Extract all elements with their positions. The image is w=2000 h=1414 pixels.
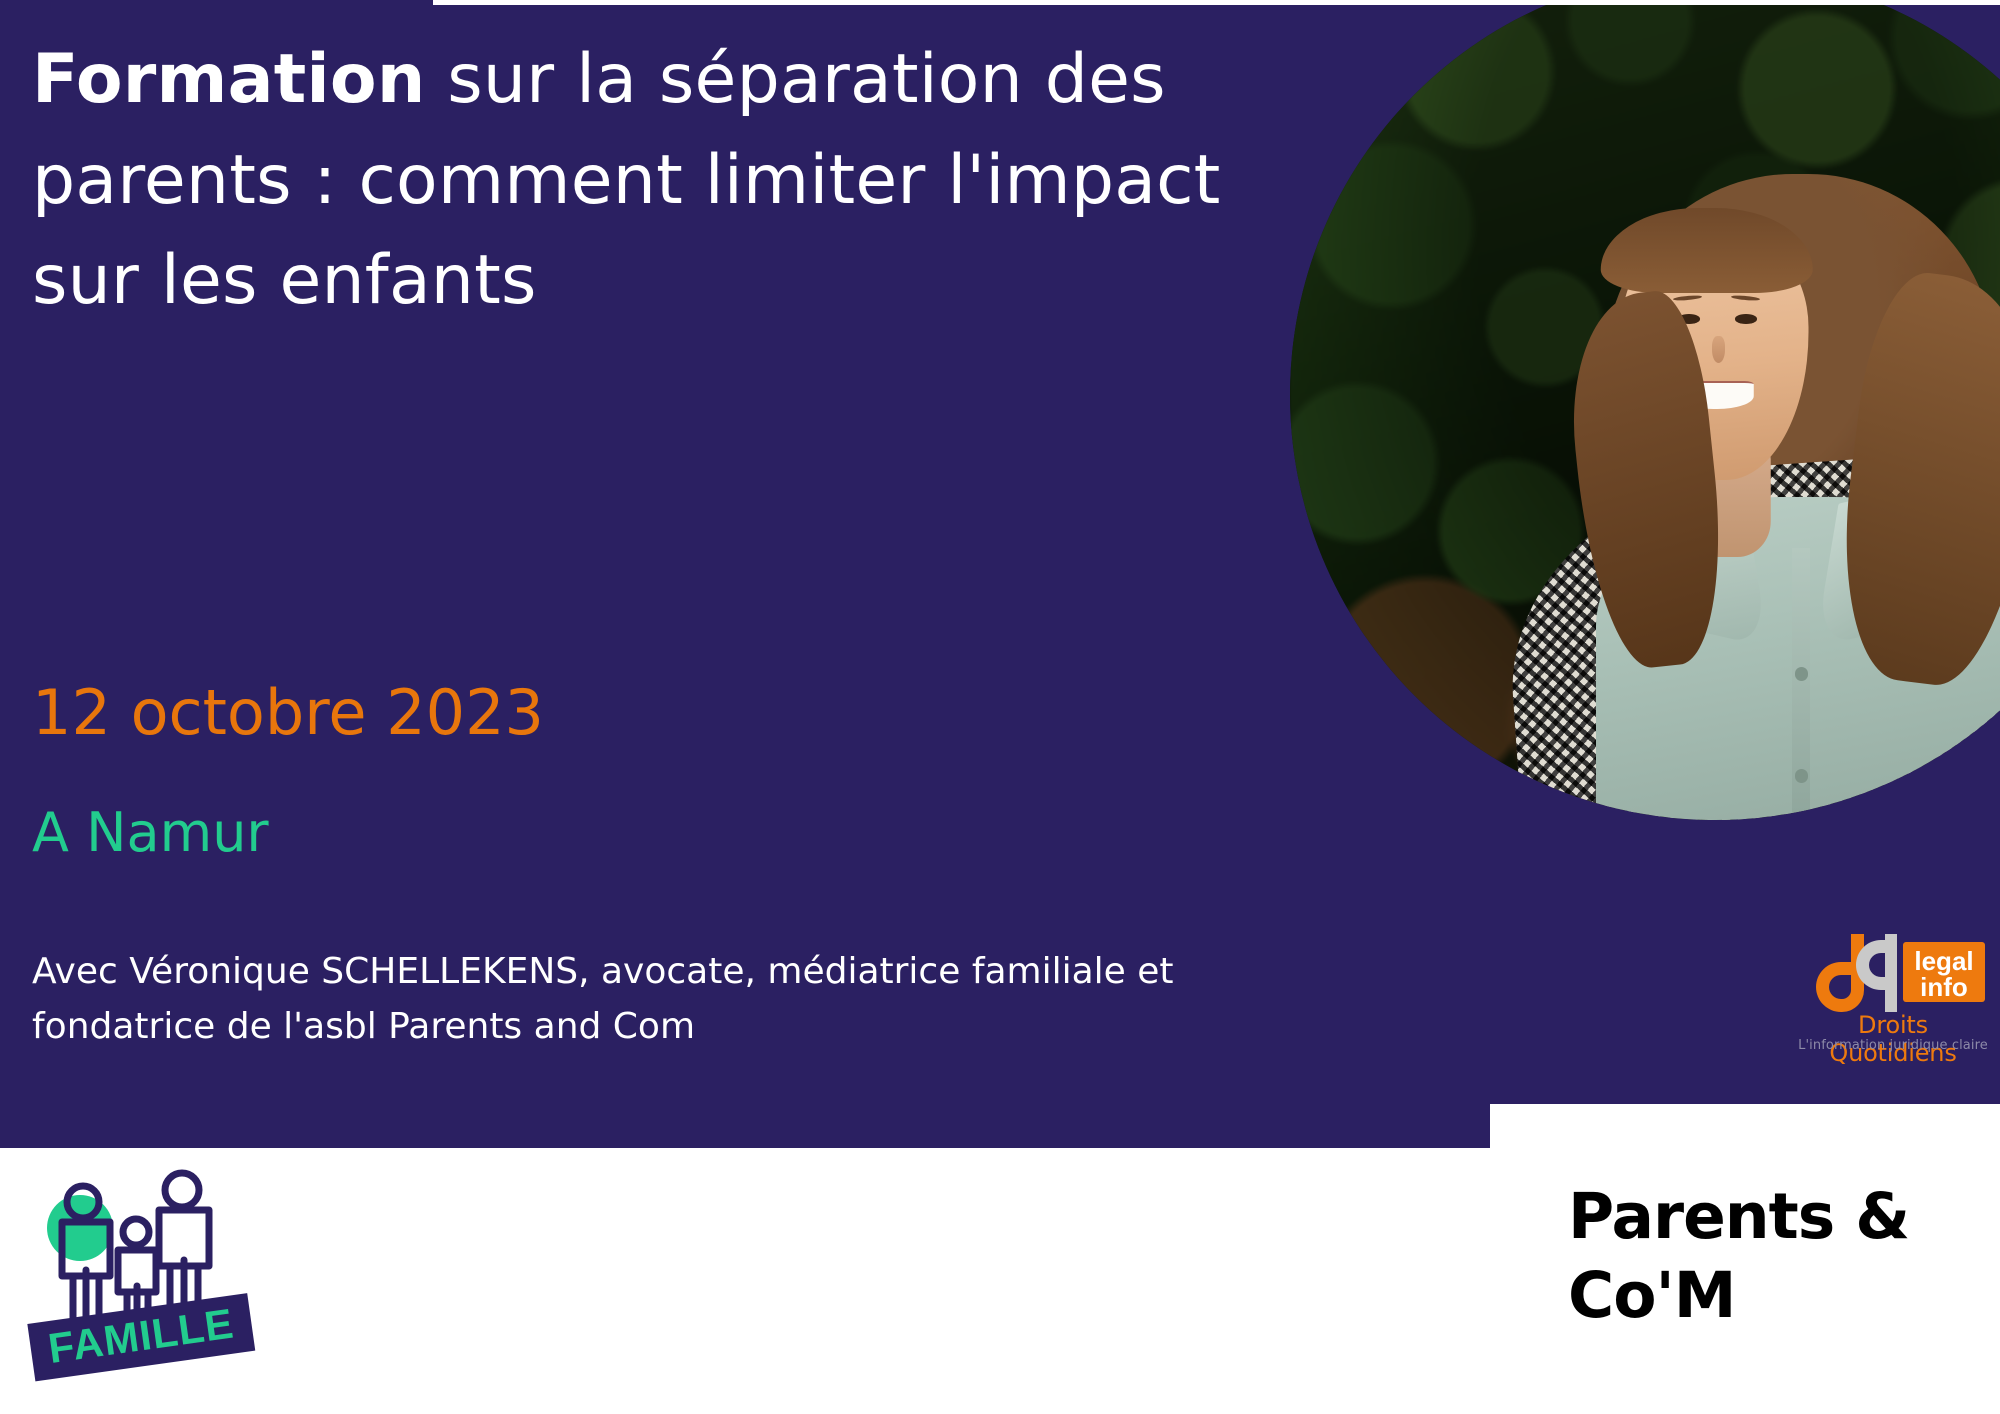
famille-green-circle <box>47 1195 113 1261</box>
top-white-strip <box>433 0 2000 5</box>
famille-banner: FAMILLE <box>27 1293 255 1381</box>
shirt-button-2 <box>1795 769 1809 783</box>
dq-tagline: L'information juridique claire <box>1793 1038 1993 1053</box>
dq-badge-info: info <box>1920 972 1968 1002</box>
dq-logo-icon: legal info <box>1793 928 1993 1016</box>
parents-logo-line2: Co'M <box>1568 1257 1988 1336</box>
dq-monogram: legal info <box>1793 928 1993 1016</box>
page-title: Formation sur la séparation des parents … <box>32 30 1272 332</box>
event-date: 12 octobre 2023 <box>32 680 544 745</box>
parents-and-com-logo: Parents & Co'M <box>1568 1178 1988 1336</box>
famille-badge-icon: FAMILLE <box>18 1150 268 1400</box>
nose <box>1712 336 1726 363</box>
white-notch-block <box>1490 1104 2000 1164</box>
event-location: A Namur <box>32 805 269 862</box>
title-strong: Formation <box>32 40 425 119</box>
speaker-description: Avec Véronique SCHELLEKENS, avocate, méd… <box>32 945 1232 1054</box>
shirt-button-1 <box>1795 667 1809 681</box>
droits-quotidiens-logo: legal info Droits Quotidiens L'informati… <box>1793 928 1993 1058</box>
poster-canvas: Formation sur la séparation des parents … <box>0 0 2000 1414</box>
speaker-portrait-photo <box>1290 0 2000 820</box>
parents-logo-line1: Parents & <box>1568 1178 1988 1257</box>
eye-right <box>1735 314 1757 323</box>
famille-icon: FAMILLE <box>18 1150 268 1400</box>
